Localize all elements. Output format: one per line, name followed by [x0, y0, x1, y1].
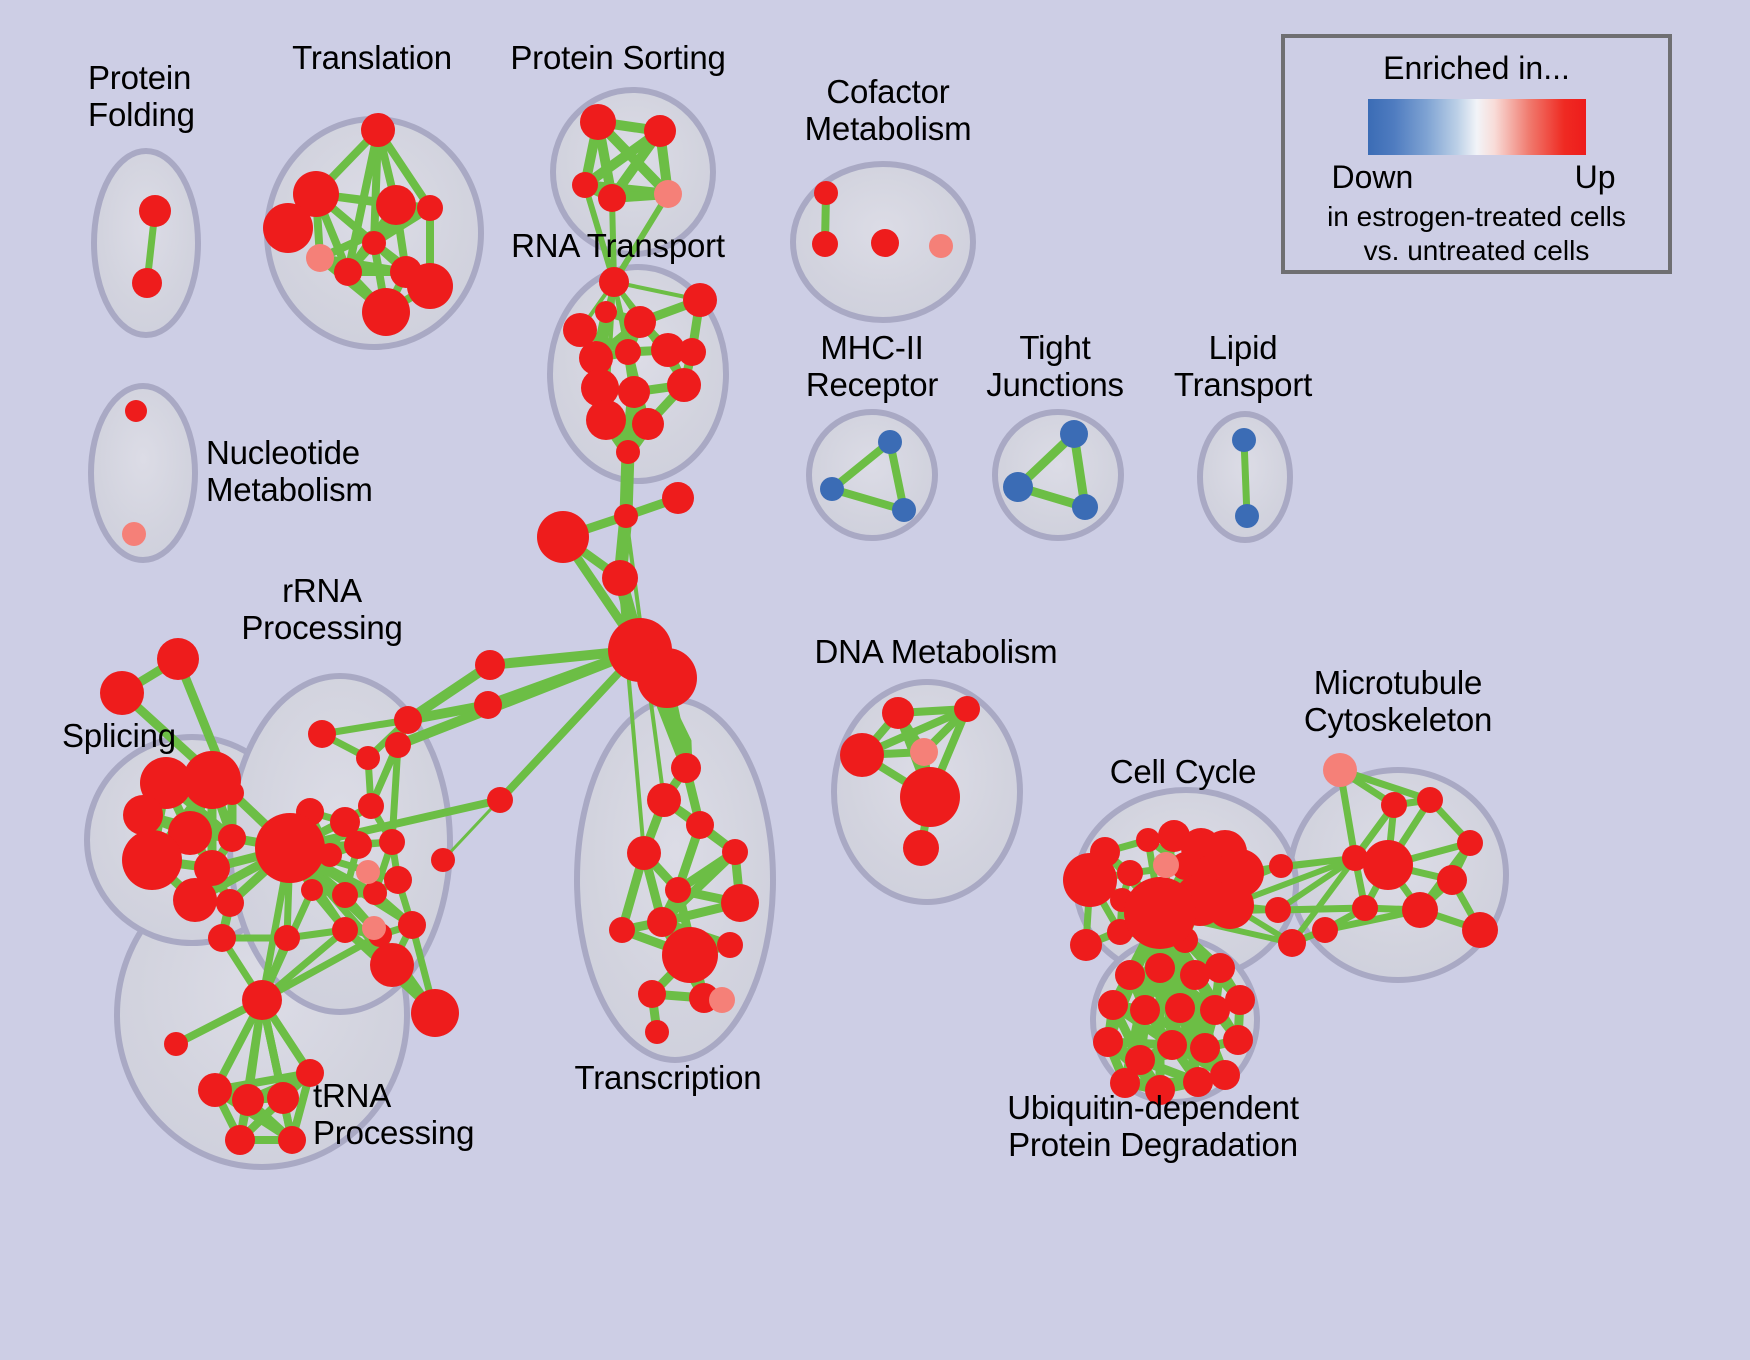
node-faded-protein-sorting [654, 180, 682, 208]
enrichment-map-figure: Protein Folding Translation Protein Sort… [0, 0, 1750, 1360]
node-faded-microtubule [1323, 753, 1357, 787]
cluster-label-tight-junctions: Tight Junctions [986, 330, 1124, 404]
cluster-label-cell-cycle: Cell Cycle [1110, 754, 1257, 791]
legend-color-gradient-bar [1368, 99, 1586, 155]
cluster-label-translation: Translation [292, 40, 452, 77]
cluster-hull-protein-folding [94, 151, 198, 335]
node-faded-dna-metabolism [910, 738, 938, 766]
cluster-label-mhc-ii-receptor: MHC-II Receptor [806, 330, 938, 404]
legend-caption-line1: in estrogen-treated cells [1285, 201, 1668, 233]
node-faded-cofactor [929, 234, 953, 258]
cluster-label-cofactor-metabolism: Cofactor Metabolism [805, 74, 972, 148]
legend-endpoint-labels: Down Up [1332, 159, 1622, 199]
cluster-label-protein-sorting: Protein Sorting [510, 40, 725, 77]
cluster-label-lipid-transport: Lipid Transport [1174, 330, 1312, 404]
cluster-label-rna-transport: RNA Transport [511, 228, 725, 265]
node-faded-translation [306, 244, 334, 272]
cluster-label-ubiquitin-degradation: Ubiquitin-dependent Protein Degradation [1007, 1090, 1299, 1164]
legend-title: Enriched in... [1285, 50, 1668, 87]
cluster-label-splicing: Splicing [62, 718, 176, 755]
node-faded-transcription [709, 987, 735, 1013]
cluster-label-dna-metabolism: DNA Metabolism [815, 634, 1058, 671]
cluster-label-rrna-processing: rRNA Processing [241, 573, 402, 647]
legend-high-label: Up [1575, 159, 1616, 196]
cluster-label-microtubule-cytoskeleton: Microtubule Cytoskeleton [1304, 665, 1492, 739]
cluster-label-trna-processing: tRNA Processing [313, 1078, 474, 1152]
cluster-label-nucleotide-metabolism: Nucleotide Metabolism [206, 435, 373, 509]
cluster-label-transcription: Transcription [575, 1060, 762, 1097]
cluster-hull-mhc-ii-receptor [809, 412, 935, 538]
legend-caption-line2: vs. untreated cells [1285, 235, 1668, 267]
node-faded-cell-cycle [1153, 852, 1179, 878]
legend-low-label: Down [1332, 159, 1414, 196]
cluster-label-protein-folding: Protein Folding [88, 60, 195, 134]
legend-panel: Enriched in... Down Up in estrogen-treat… [1281, 34, 1672, 274]
